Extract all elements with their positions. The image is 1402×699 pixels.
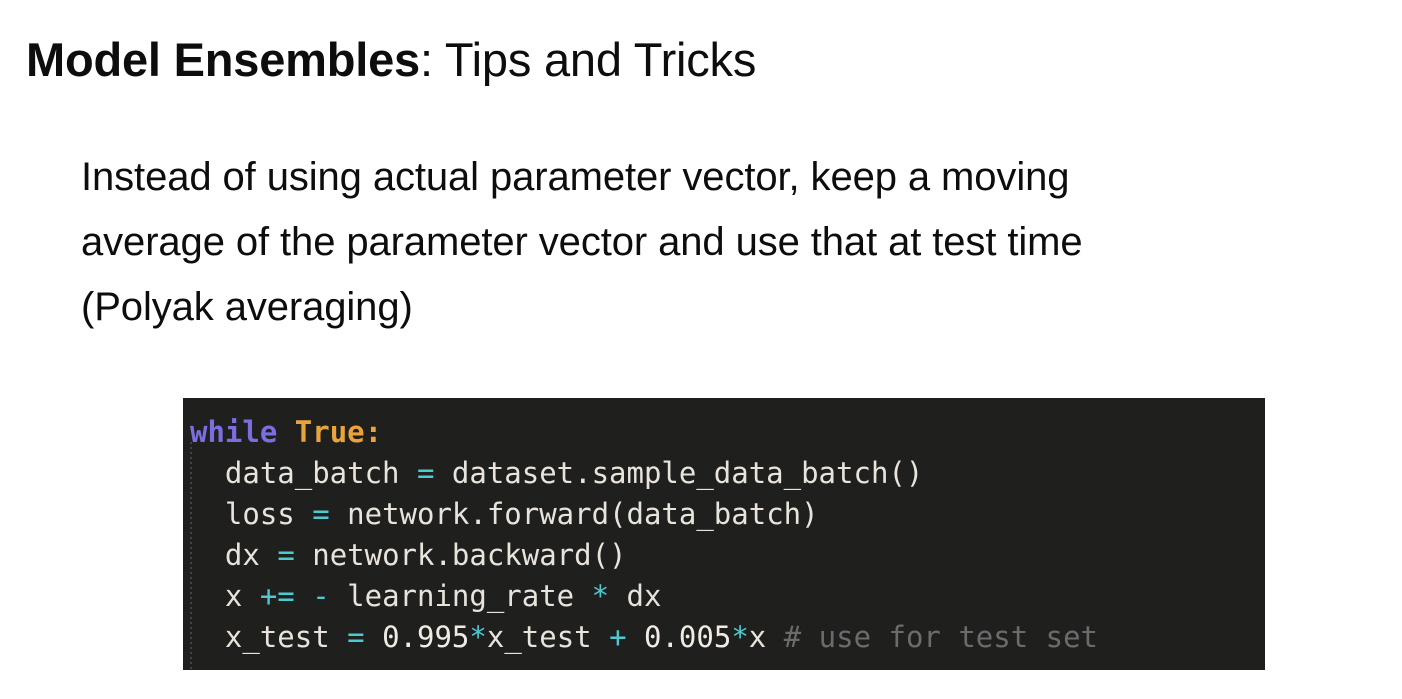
code-token-id [277,415,294,449]
code-token-bool: True [295,415,365,449]
code-token-id [627,620,644,654]
code-token-id: x [749,620,766,654]
code-line: while True: [183,412,1265,453]
code-token-op: * [469,620,486,654]
code-block-inner: while True: data_batch = dataset.sample_… [183,398,1265,658]
code-line: x += - learning_rate * dx [183,576,1265,617]
code-token-id: network.forward(data_batch) [330,497,819,531]
body-paragraph: Instead of using actual parameter vector… [81,145,1371,340]
code-indent [190,497,225,531]
code-lines: while True: data_batch = dataset.sample_… [183,412,1265,658]
code-token-id: learning_rate [330,579,592,613]
code-token-num: 0.005 [644,620,731,654]
code-token-num: 0.995 [382,620,469,654]
page-title-rest: : Tips and Tricks [420,33,756,86]
code-token-op: += [260,579,295,613]
code-token-punc: : [365,415,382,449]
code-token-op: * [592,579,609,613]
body-paragraph-line: average of the parameter vector and use … [81,210,1371,275]
code-token-id: dataset.sample_data_batch() [434,456,923,490]
code-token-id [365,620,382,654]
code-token-id: data_batch [225,456,417,490]
code-token-id: x_test [487,620,609,654]
code-token-op: = [277,538,294,572]
page-title: Model Ensembles: Tips and Tricks [26,29,756,91]
code-token-id: x [225,579,260,613]
code-line: dx = network.backward() [183,535,1265,576]
page-title-strong: Model Ensembles [26,33,420,86]
code-line: x_test = 0.995*x_test + 0.005*x # use fo… [183,617,1265,658]
code-token-op: = [347,620,364,654]
code-token-op: * [731,620,748,654]
code-indent [190,620,225,654]
code-line: loss = network.forward(data_batch) [183,494,1265,535]
code-token-op: = [417,456,434,490]
code-token-op: - [312,579,329,613]
body-paragraph-line: Instead of using actual parameter vector… [81,145,1371,210]
code-token-id [295,579,312,613]
code-token-id: loss [225,497,312,531]
code-line: data_batch = dataset.sample_data_batch() [183,453,1265,494]
body-paragraph-line: (Polyak averaging) [81,275,1371,340]
code-indent [190,579,225,613]
code-indent [190,538,225,572]
code-token-id: dx [609,579,661,613]
code-block: while True: data_batch = dataset.sample_… [183,398,1265,670]
code-token-id: network.backward() [295,538,627,572]
code-token-cmt: # use for test set [766,620,1098,654]
code-token-id: dx [225,538,277,572]
code-token-id: x_test [225,620,347,654]
code-token-kw: while [190,415,277,449]
code-token-op: + [609,620,626,654]
code-indent [190,456,225,490]
code-token-op: = [312,497,329,531]
